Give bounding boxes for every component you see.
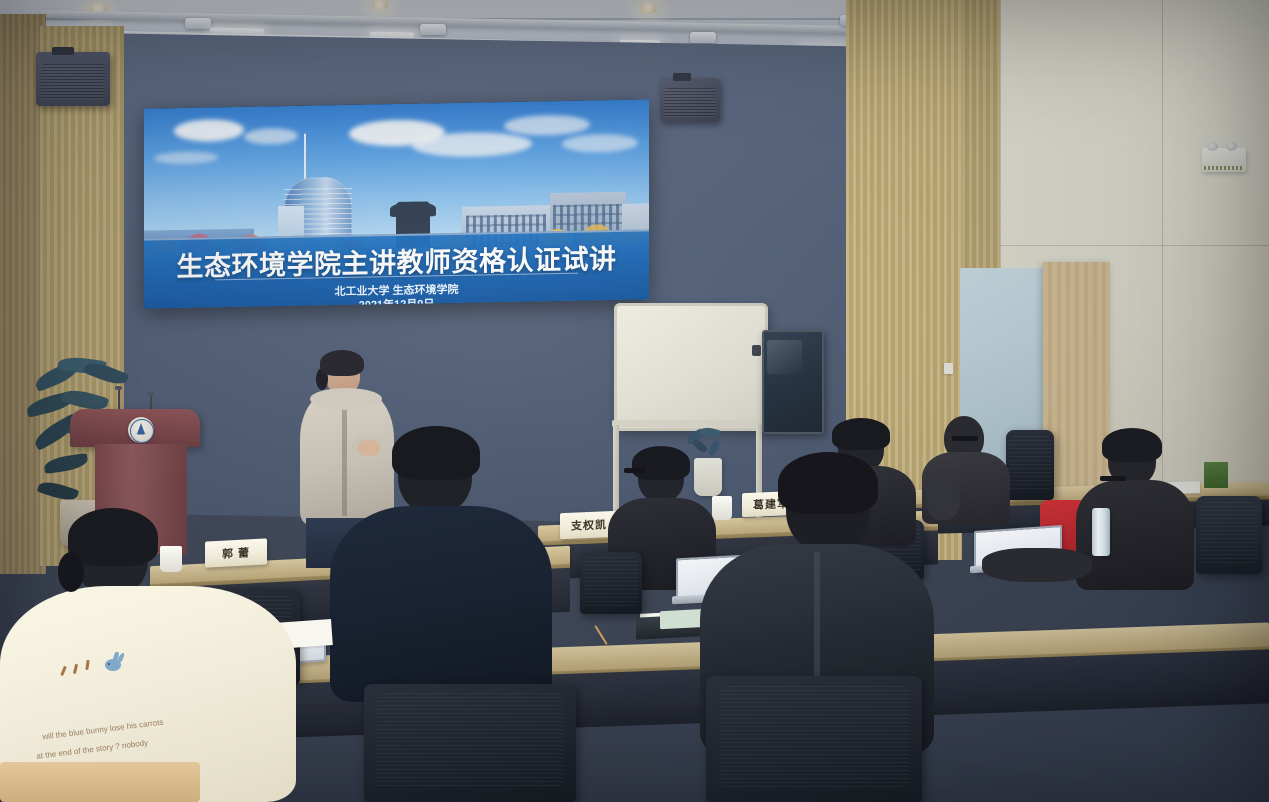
emblem-sail-icon [128,417,154,443]
panel-seam [1162,0,1163,520]
desk-item-folder[interactable] [0,762,200,802]
water-bottle[interactable] [1092,508,1110,556]
audience-hair [632,446,690,480]
track-lamp [185,18,211,29]
ceiling-light-tube [370,32,414,38]
chair-mesh [719,686,909,787]
presenter-hoodie [300,390,394,525]
slide-title-band: 生态环境学院主讲教师资格认证试讲 北工业大学 生态环境学院 2021年12月9日 [144,229,649,308]
glasses-icon [624,468,646,473]
ceiling-light-tube [210,27,264,33]
office-chair[interactable] [364,684,576,802]
bunny-icon [100,652,126,672]
presenter-hands [358,440,380,456]
audience-hair [392,426,480,480]
audience-body [330,506,552,702]
panel-seam [1000,245,1269,246]
podium-microphone [115,386,122,390]
audience-arm [982,548,1092,582]
presenter-hair [320,350,364,376]
whiteboard[interactable] [614,303,768,431]
led-display-screen: 生态环境学院主讲教师资格认证试讲 北工业大学 生态环境学院 2021年12月9日 [144,99,649,308]
office-chair[interactable] [1196,496,1262,574]
wall-panel-right-wood-upper [962,0,1002,300]
lecture-hall-scene: 生态环境学院主讲教师资格认证试讲 北工业大学 生态环境学院 2021年12月9日 [0,0,1269,802]
glasses-icon [952,436,978,441]
chair-mesh [584,557,639,607]
paper-cup[interactable] [160,546,182,572]
podium-microphone [147,392,154,396]
wall-speaker-right [660,78,720,122]
monitor-glare [767,340,802,374]
track-lamp [690,32,716,43]
ding-rim [390,201,436,216]
emergency-lamp-head [1207,142,1218,151]
name-card: 郭 蕾 [205,538,267,567]
speaker-grille [41,64,105,100]
green-binder[interactable] [1204,462,1228,488]
emergency-lamp-head [1226,142,1237,151]
plant-pot [694,458,722,496]
chair-mesh [1009,436,1051,492]
whiteboard-marker-tray [612,420,764,427]
ceiling-spotlight [372,0,388,10]
glasses-icon [1100,476,1126,481]
hoodie-zipper [342,398,347,516]
emergency-light [1202,148,1246,172]
wall-monitor[interactable] [762,330,824,434]
chair-mesh [377,693,564,787]
chair-mesh [1200,502,1258,564]
university-emblem-icon [128,417,154,443]
track-lamp [420,24,446,35]
slide-title: 生态环境学院主讲教师资格认证试讲 [144,236,649,284]
office-chair[interactable] [580,552,642,614]
tower-spire [304,134,306,182]
wall-speaker-left [36,52,110,106]
office-chair[interactable] [1006,430,1054,500]
ceiling-spotlight [640,2,657,14]
audience-hair [778,452,878,514]
speaker-grille [664,88,716,117]
audience-hair [1102,428,1162,462]
speaker-mount [52,47,74,55]
hoodie-hood [310,388,382,410]
pen[interactable] [594,625,607,645]
speaker-mount [673,73,691,81]
whiteboard-clip [752,345,761,356]
office-chair[interactable] [706,676,922,802]
hair-bun [58,552,84,592]
audience-hair [832,418,890,450]
paper-cup[interactable] [712,496,732,520]
audience-hair [68,508,158,566]
audience-arm [926,470,960,520]
emergency-light-label [1204,166,1244,170]
light-switch[interactable] [944,363,953,374]
